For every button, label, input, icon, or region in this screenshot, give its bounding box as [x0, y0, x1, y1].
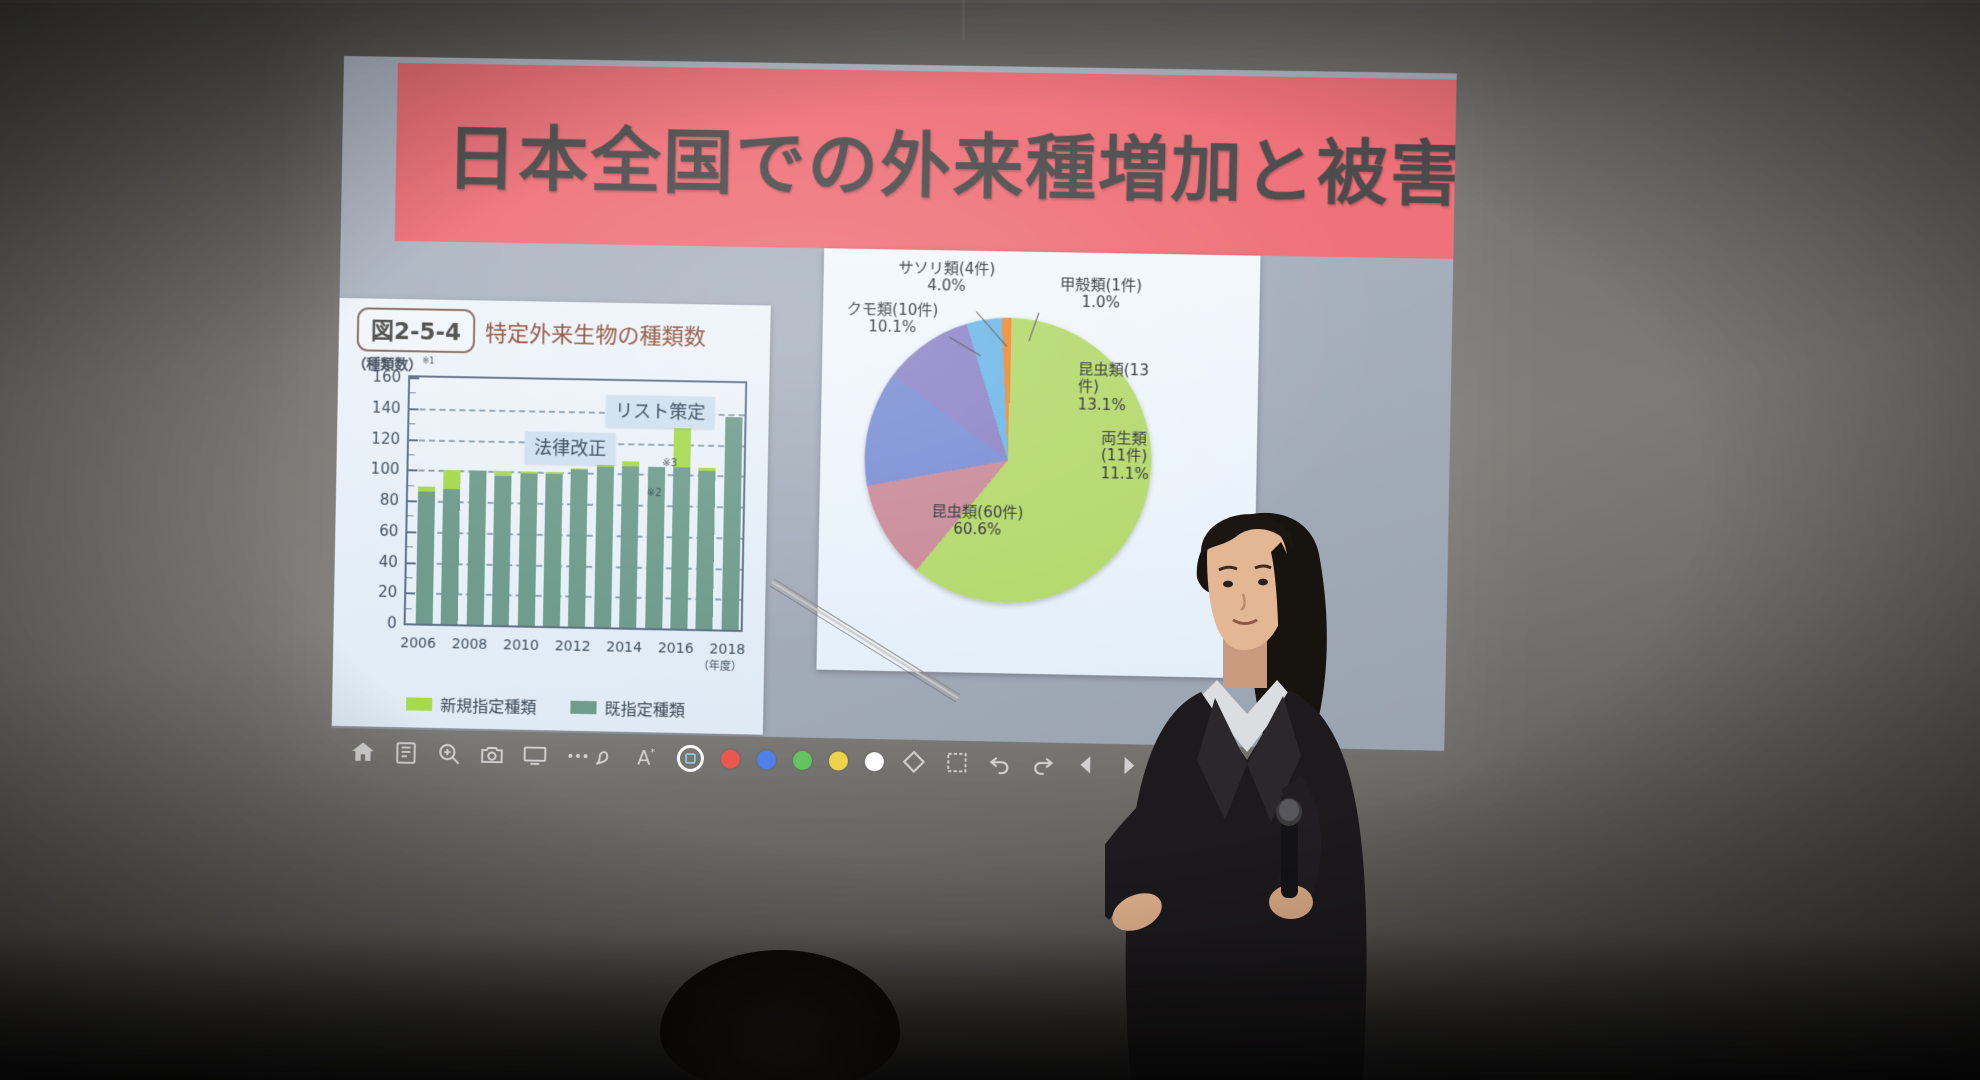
- more-icon[interactable]: [565, 743, 591, 769]
- text-icon[interactable]: A*: [634, 744, 660, 770]
- y-axis-minor-tick: [408, 516, 414, 517]
- bar-column: [543, 380, 565, 627]
- x-axis-tick-label: 2018: [709, 641, 745, 658]
- pen-icon[interactable]: [591, 743, 617, 769]
- bar-chart-panel: 図2-5-4 特定外来生物の種類数 （種類数）※1 02040608010012…: [332, 298, 771, 735]
- color-swatch-green[interactable]: [793, 750, 812, 769]
- wall-seam: [0, 0, 1980, 3]
- bar-segment-existing: [619, 466, 639, 628]
- bar-segment-existing: [568, 469, 588, 626]
- color-swatch-yellow[interactable]: [829, 751, 848, 770]
- y-axis-tick: [407, 562, 416, 564]
- svg-text:A: A: [637, 747, 651, 770]
- y-axis-tick-label: 60: [379, 521, 398, 539]
- y-axis-tick-label: 120: [371, 429, 400, 448]
- x-axis-tick-label: 2012: [555, 638, 591, 655]
- y-axis-unit-note: ※1: [422, 357, 434, 366]
- bar-column: [441, 378, 463, 624]
- prev-icon[interactable]: [1073, 752, 1099, 778]
- y-axis-tick: [410, 408, 419, 410]
- bar-segment-existing: [543, 474, 563, 627]
- y-axis-tick-label: 20: [378, 583, 397, 601]
- legend-swatch: [570, 700, 596, 714]
- y-axis-tick-label: 140: [372, 398, 401, 417]
- legend-swatch: [406, 697, 432, 711]
- y-axis-tick: [408, 470, 417, 472]
- x-axis-tick-label: 2008: [452, 636, 488, 653]
- legend-label: 既指定種類: [604, 695, 685, 721]
- bar-chart-legend: 新規指定種類既指定種類: [406, 691, 685, 721]
- pie-label-insect-13-percent: 13.1%: [1077, 396, 1168, 415]
- pie-label-spider-percent: 10.1%: [819, 318, 966, 338]
- y-axis-minor-tick: [406, 608, 412, 609]
- highlighter-selected-icon[interactable]: [677, 744, 704, 771]
- bar-column: [416, 377, 438, 623]
- bar-segment-existing: [441, 489, 461, 625]
- capture-icon[interactable]: [393, 740, 419, 766]
- bar-column: [492, 379, 514, 626]
- bar-column: [467, 378, 489, 625]
- figure-header: 図2-5-4 特定外来生物の種類数: [357, 307, 707, 357]
- bar-plot-wrapper: 020406080100120140160 200620082010201220…: [353, 374, 755, 666]
- x-axis-tick-label: 2014: [606, 639, 642, 656]
- bar-segment-new: [444, 470, 461, 489]
- zoom-in-icon[interactable]: [436, 741, 462, 767]
- y-axis-minor-tick: [408, 485, 414, 486]
- color-swatch-red[interactable]: [721, 749, 740, 768]
- page-title: 日本全国での外来種増加と被害の割合: [445, 102, 1456, 224]
- x-axis-tick-label: 2006: [400, 635, 436, 652]
- bar-segment-existing: [517, 473, 537, 626]
- bar-plot-area: 020406080100120140160 200620082010201220…: [404, 375, 748, 632]
- legend-label: 新規指定種類: [440, 692, 537, 718]
- y-axis-minor-tick: [410, 393, 416, 394]
- floor-shadow: [0, 930, 1980, 1080]
- y-axis-tick-label: 0: [387, 614, 397, 632]
- y-axis-tick-label: 80: [380, 491, 399, 509]
- callout-law-revision: 法律改正: [525, 431, 616, 465]
- pie-label-insect-60: 昆虫類(60件) 60.6%: [901, 503, 1053, 541]
- y-axis-tick: [406, 623, 415, 625]
- y-axis-tick: [409, 439, 418, 441]
- pie-label-scorpion-percent: 4.0%: [876, 276, 1018, 296]
- y-axis-tick: [407, 531, 416, 533]
- y-axis-tick-label: 160: [372, 368, 401, 387]
- y-axis-minor-tick: [409, 423, 415, 424]
- y-axis-tick: [406, 593, 415, 595]
- bar-segment-existing: [467, 471, 487, 625]
- wall-seam: [962, 0, 965, 40]
- note-marker-3: ※3: [662, 458, 677, 469]
- pie-label-spider: クモ類(10件) 10.1%: [819, 300, 967, 337]
- y-axis-tick-label: 100: [371, 460, 400, 479]
- bar-segment-existing: [416, 491, 435, 624]
- y-axis-minor-tick: [409, 454, 415, 455]
- note-marker-2: ※2: [647, 488, 662, 499]
- color-swatch-blue[interactable]: [757, 750, 776, 769]
- legend-item: 新規指定種類: [406, 691, 537, 718]
- color-swatch-white[interactable]: [865, 751, 884, 770]
- y-axis-tick-label: 40: [378, 552, 397, 570]
- pie-label-crustacean-percent: 1.0%: [1035, 293, 1167, 313]
- svg-text:*: *: [650, 747, 655, 758]
- x-axis-tick-label: 2010: [503, 637, 539, 654]
- bar-segment-existing: [696, 470, 716, 629]
- bar-column: [568, 380, 590, 627]
- bar-segment-existing: [670, 467, 690, 629]
- slide-title-banner: 日本全国での外来種増加と被害の割合: [395, 63, 1457, 259]
- bar-segment-existing: [594, 467, 614, 627]
- figure-badge: 図2-5-4: [357, 307, 476, 353]
- bar-segment-existing: [721, 417, 742, 630]
- toolbar-left-group: [350, 739, 591, 769]
- y-axis-minor-tick: [406, 577, 412, 578]
- figure-title: 特定外来生物の種類数: [485, 316, 706, 352]
- bar-column: [721, 383, 743, 630]
- y-axis-tick: [408, 500, 417, 502]
- pie-label-insect-60-percent: 60.6%: [901, 520, 1053, 540]
- home-icon[interactable]: [350, 739, 376, 765]
- legend-item: 既指定種類: [570, 695, 685, 721]
- diamond-icon[interactable]: [901, 749, 927, 775]
- callout-list-policy: リスト策定: [606, 395, 715, 429]
- select-icon[interactable]: [944, 749, 970, 775]
- camera-icon[interactable]: [479, 741, 505, 767]
- bar-column: [517, 379, 539, 626]
- y-axis-tick: [410, 377, 419, 379]
- x-axis-tick-label: 2016: [658, 640, 694, 657]
- pie-label-scorpion: サソリ類(4件) 4.0%: [876, 259, 1018, 296]
- screen-icon[interactable]: [522, 742, 548, 768]
- pie-label-insect-13: 昆虫類(13 件) 13.1%: [1077, 361, 1169, 415]
- y-axis-minor-tick: [407, 546, 413, 547]
- redo-icon[interactable]: [1030, 751, 1056, 777]
- pointer-stick: [770, 578, 970, 708]
- pie-label-crustacean: 甲殻類(1件) 1.0%: [1035, 276, 1167, 313]
- bar-segment-existing: [492, 476, 512, 626]
- undo-icon[interactable]: [987, 750, 1013, 776]
- x-axis-unit-label: （年度）: [698, 657, 743, 674]
